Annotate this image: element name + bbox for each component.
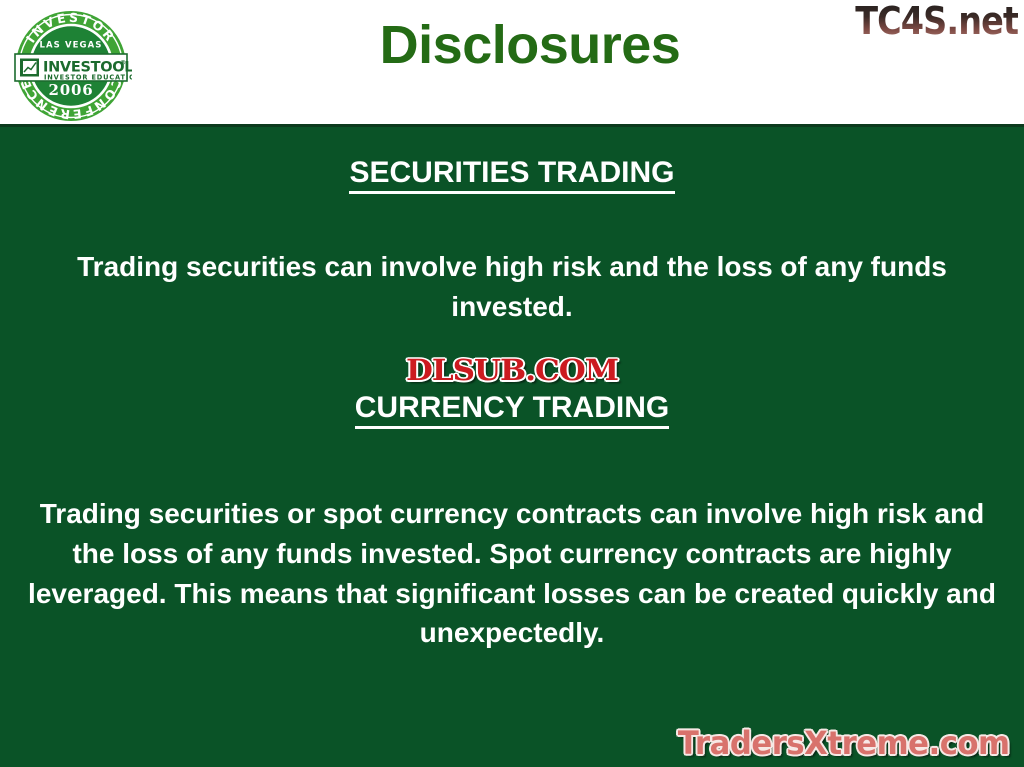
- slide-canvas: INVESTOR CONFERENCE LAS VEGAS INVESTOOLS…: [0, 0, 1024, 767]
- slide-body-panel: SECURITIES TRADING Trading securities ca…: [0, 127, 1024, 767]
- tradersxtreme-com-watermark: TradersXtreme.com: [678, 727, 1010, 759]
- badge-brand-trademark: ®: [120, 60, 126, 67]
- dlsub-com-watermark: DLSUB.COM: [0, 357, 1024, 386]
- badge-city-text: LAS VEGAS: [39, 41, 102, 51]
- section-heading-securities-trading-label: SECURITIES TRADING: [349, 156, 674, 194]
- badge-year-text: 2006: [49, 81, 94, 99]
- investools-conference-badge-logo: INVESTOR CONFERENCE LAS VEGAS INVESTOOLS…: [10, 4, 132, 122]
- page-title: Disclosures: [180, 18, 880, 72]
- section-heading-securities-trading: SECURITIES TRADING: [0, 156, 1024, 189]
- section-heading-currency-trading: CURRENCY TRADING: [0, 391, 1024, 424]
- section-body-securities-trading: Trading securities can involve high risk…: [40, 247, 984, 327]
- slide-header: INVESTOR CONFERENCE LAS VEGAS INVESTOOLS…: [0, 0, 1024, 126]
- tc4s-net-logo: TC4S.net: [855, 2, 1018, 40]
- section-body-currency-trading: Trading securities or spot currency cont…: [28, 494, 996, 653]
- section-heading-currency-trading-label: CURRENCY TRADING: [355, 391, 669, 429]
